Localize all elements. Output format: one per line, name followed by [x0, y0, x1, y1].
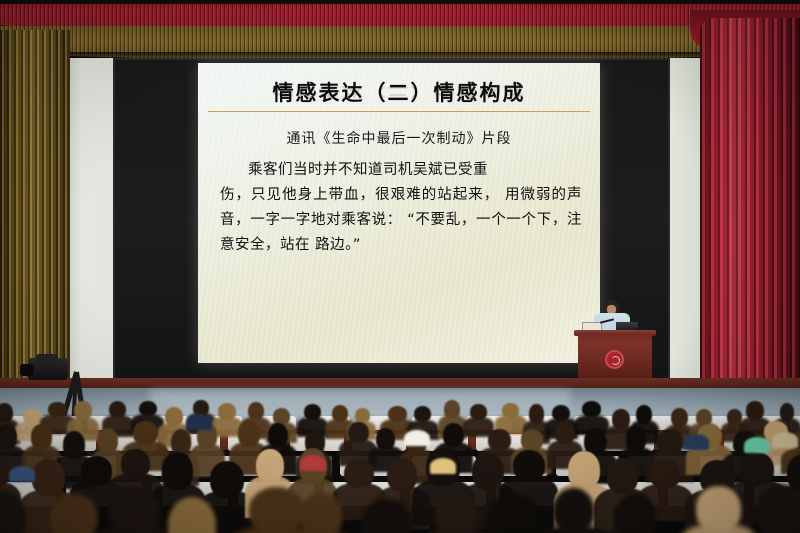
slide-body-line: 伤，只见他身上带血，很艰难的站起来， [220, 187, 499, 203]
university-seal-icon [605, 350, 624, 369]
curtain-red-right [700, 18, 800, 423]
auditorium-photo: 情感表达（二）情感构成 情感表达（二）情感构成 通讯《生命中最后一次制动》片段 … [0, 0, 800, 533]
audience-member-head [434, 491, 477, 533]
audience-cap [186, 414, 212, 430]
audience-cap [772, 432, 798, 448]
audience-cap [683, 434, 709, 450]
slide-subtitle: 通讯《生命中最后一次制动》片段 [198, 128, 600, 148]
slide-body-text: 乘客们当时并不知道司机吴斌已受重 伤，只见他身上带血，很艰难的站起来， 用微弱的… [220, 158, 582, 258]
camera-viewfinder [36, 354, 58, 362]
audience-member-head [300, 493, 342, 533]
audience-member-head [757, 484, 800, 533]
audience-cap [300, 455, 326, 471]
audience-cap [744, 437, 770, 453]
camera-lens-icon [20, 364, 34, 376]
audience-member-head [50, 494, 99, 533]
proscenium-wall-left [62, 58, 117, 380]
curtain-gold-left [0, 30, 70, 386]
laptop-icon [616, 322, 638, 330]
slide-title-reflection: 情感表达（二）情感构成 [198, 84, 600, 101]
slide-title-rule [208, 111, 590, 112]
audience-cap [430, 458, 456, 474]
audience [0, 398, 800, 533]
audience-cap [404, 430, 430, 446]
audience-member-shoulders [416, 529, 495, 533]
slide-body-line: 路边。” [315, 237, 361, 253]
slide-body-line: 乘客们当时并不知道司机吴斌已受重 [220, 158, 582, 183]
projected-slide: 情感表达（二）情感构成 情感表达（二）情感构成 通讯《生命中最后一次制动》片段 … [198, 63, 600, 363]
audience-cap [9, 466, 35, 482]
